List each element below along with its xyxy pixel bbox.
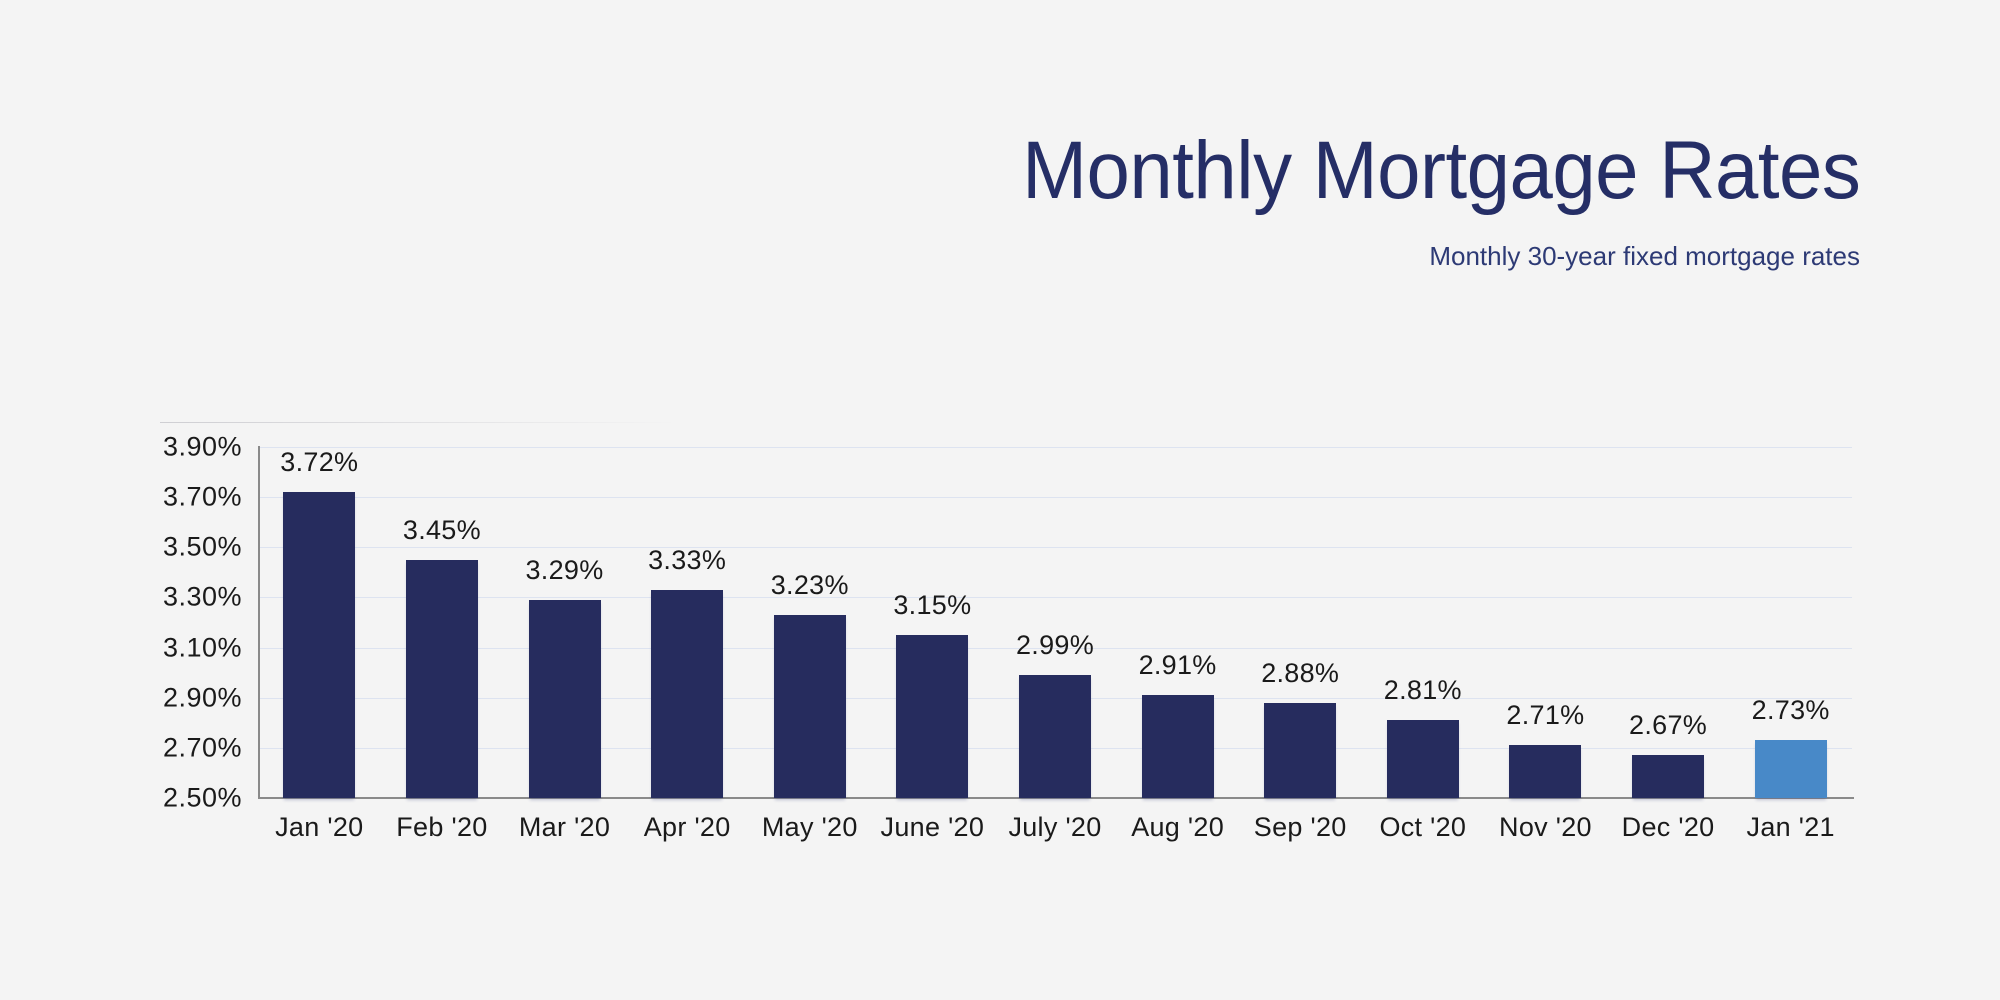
plot-area: 3.90%3.70%3.50%3.30%3.10%2.90%2.70%2.50%… <box>0 0 2000 1000</box>
bar-value-label: 3.45% <box>403 515 481 546</box>
y-axis-tick-label: 3.70% <box>163 482 242 513</box>
bar[interactable] <box>1509 745 1581 798</box>
bar[interactable] <box>1019 675 1091 798</box>
bar-value-label: 3.33% <box>648 545 726 576</box>
y-axis-tick-label: 3.50% <box>163 532 242 563</box>
bar[interactable] <box>1264 703 1336 798</box>
x-axis-tick-label: Nov '20 <box>1499 812 1592 843</box>
bar-group: 2.81% <box>1362 447 1485 798</box>
bar-value-label: 2.88% <box>1261 658 1339 689</box>
x-axis-tick-label: July '20 <box>1008 812 1101 843</box>
bar-value-label: 3.72% <box>280 447 358 478</box>
bar[interactable] <box>651 590 723 798</box>
x-axis-tick-label: June '20 <box>881 812 985 843</box>
bar-value-label: 3.29% <box>525 555 603 586</box>
bar-group: 3.33% <box>626 447 749 798</box>
y-axis-tick-label: 3.30% <box>163 582 242 613</box>
y-axis-tick-label: 2.70% <box>163 732 242 763</box>
x-axis-labels: Jan '20Feb '20Mar '20Apr '20May '20June … <box>258 812 1852 852</box>
bar-group: 2.73% <box>1729 447 1852 798</box>
bar-value-label: 3.15% <box>893 590 971 621</box>
bar-group: 3.45% <box>381 447 504 798</box>
header-divider <box>160 422 680 423</box>
bar-value-label: 3.23% <box>771 570 849 601</box>
bar-value-label: 2.67% <box>1629 710 1707 741</box>
bar-group: 3.29% <box>503 447 626 798</box>
x-axis-tick-label: Jan '20 <box>275 812 363 843</box>
bar[interactable] <box>406 560 478 798</box>
bar-value-label: 2.71% <box>1506 700 1584 731</box>
bar[interactable] <box>896 635 968 798</box>
x-axis-tick-label: Oct '20 <box>1379 812 1466 843</box>
bar-group: 2.88% <box>1239 447 1362 798</box>
bar[interactable] <box>1387 720 1459 798</box>
x-axis-tick-label: Feb '20 <box>396 812 487 843</box>
x-axis-tick-label: Sep '20 <box>1254 812 1347 843</box>
bar-value-label: 2.91% <box>1139 650 1217 681</box>
x-axis-tick-label: Aug '20 <box>1131 812 1224 843</box>
bar-group: 2.71% <box>1484 447 1607 798</box>
bar-value-label: 2.99% <box>1016 630 1094 661</box>
bar-series: 3.72%3.45%3.29%3.33%3.23%3.15%2.99%2.91%… <box>258 447 1852 798</box>
bar-group: 3.23% <box>748 447 871 798</box>
bar[interactable] <box>1632 755 1704 798</box>
y-axis-tick-label: 2.90% <box>163 682 242 713</box>
x-axis-tick-label: Apr '20 <box>644 812 731 843</box>
bar-highlight[interactable] <box>1755 740 1827 798</box>
x-axis-tick-label: Dec '20 <box>1622 812 1715 843</box>
bar-value-label: 2.73% <box>1752 695 1830 726</box>
bar-group: 2.99% <box>994 447 1117 798</box>
x-axis-tick-label: May '20 <box>762 812 858 843</box>
bar-group: 2.91% <box>1116 447 1239 798</box>
y-axis-tick-label: 3.90% <box>163 432 242 463</box>
y-axis-tick-label: 2.50% <box>163 783 242 814</box>
x-axis-tick-label: Jan '21 <box>1747 812 1835 843</box>
bar-group: 2.67% <box>1607 447 1730 798</box>
bar-value-label: 2.81% <box>1384 675 1462 706</box>
x-axis-tick-label: Mar '20 <box>519 812 610 843</box>
chart-canvas: Monthly Mortgage Rates Monthly 30-year f… <box>0 0 2000 1000</box>
bar-group: 3.72% <box>258 447 381 798</box>
bar[interactable] <box>774 615 846 798</box>
bar[interactable] <box>529 600 601 798</box>
y-axis-labels: 3.90%3.70%3.50%3.30%3.10%2.90%2.70%2.50% <box>150 447 242 798</box>
bar-group: 3.15% <box>871 447 994 798</box>
y-axis-tick-label: 3.10% <box>163 632 242 663</box>
bar[interactable] <box>283 492 355 798</box>
bar[interactable] <box>1142 695 1214 798</box>
